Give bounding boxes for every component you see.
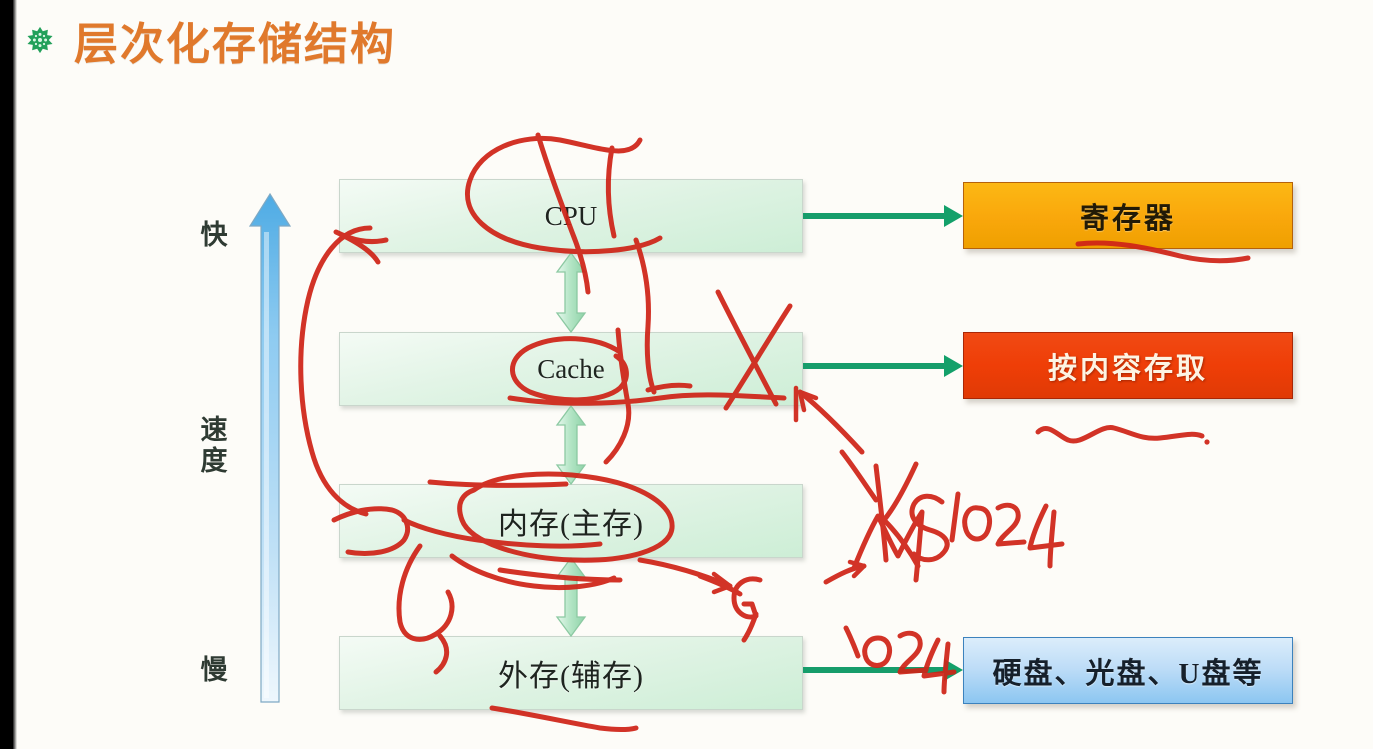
ink-k-ratio-0 <box>965 508 990 539</box>
ink-g-ratio-0 <box>865 638 890 666</box>
hierarchy-box-cpu[interactable]: CPU <box>339 179 803 253</box>
ink-letter-k-stem <box>876 466 886 560</box>
ink-letter-m <box>854 512 922 580</box>
slide-canvas: 层次化存储结构 快 速度 慢 CPU Cache 内存(主存) <box>0 0 1373 749</box>
flower-star-ornament-icon <box>26 26 54 54</box>
scribble-memory-2 <box>399 546 452 639</box>
ink-g-ratio-4b <box>944 644 948 692</box>
ink-g-ratio-2 <box>900 633 926 672</box>
side-box-content-addressed[interactable]: 按内容存取 <box>963 332 1293 399</box>
hierarchy-box-disk-label: 外存(辅存) <box>498 651 644 695</box>
hierarchy-box-cpu-label: CPU <box>545 201 598 232</box>
arrow-to-cache-shaft <box>800 392 862 452</box>
scribble-memory-4 <box>500 570 620 580</box>
right-arrow-icon <box>803 205 963 681</box>
ink-pointer-to-k <box>842 452 876 500</box>
arrow-to-g-shaft <box>640 560 730 586</box>
ink-k-ratio-4a <box>1030 506 1062 548</box>
underline-below-content <box>1038 428 1202 442</box>
ink-letter-k-arms <box>884 464 918 566</box>
speed-label-slow: 慢 <box>190 655 238 686</box>
hierarchy-box-memory-label: 内存(主存) <box>498 499 644 543</box>
ink-k-ratio-5 <box>912 496 947 560</box>
ink-g-ratio-4a <box>924 640 954 676</box>
side-box-register-label: 寄存器 <box>1080 195 1176 237</box>
speed-label-speed: 速度 <box>190 415 238 477</box>
slide-title-row: 层次化存储结构 <box>26 8 396 72</box>
hierarchy-box-cache[interactable]: Cache <box>339 332 803 406</box>
ink-pointer-to-m-shaft <box>826 566 864 582</box>
ink-letter-g <box>734 579 760 617</box>
double-headed-vertical-arrow-icon <box>557 253 585 636</box>
left-film-bar <box>0 0 13 749</box>
left-film-bar-edge <box>13 0 17 749</box>
up-arrow-icon <box>248 192 292 704</box>
arrow-to-g-head <box>714 574 730 592</box>
ink-dash-to-g <box>700 576 740 594</box>
hierarchy-box-disk[interactable]: 外存(辅存) <box>339 636 803 710</box>
speed-label-fast: 快 <box>190 220 238 251</box>
ink-k-ratio-1 <box>952 494 958 540</box>
underline-below-disk-box <box>492 708 636 730</box>
page-title: 层次化存储结构 <box>74 8 396 72</box>
side-box-content-addressed-label: 按内容存取 <box>1048 345 1208 387</box>
hierarchy-box-memory[interactable]: 内存(主存) <box>339 484 803 558</box>
ink-pointer-to-m-head <box>850 562 864 576</box>
ink-k-ratio-2 <box>998 505 1024 544</box>
side-box-register[interactable]: 寄存器 <box>963 182 1293 249</box>
side-box-disks[interactable]: 硬盘、光盘、U盘等 <box>963 637 1293 704</box>
ink-g-ratio-1 <box>846 628 858 656</box>
speed-label-speed-text: 速度 <box>199 415 229 477</box>
scribble-memory-3 <box>452 556 614 588</box>
hierarchy-box-cache-label: Cache <box>537 354 604 385</box>
dot-below-content <box>1204 439 1209 444</box>
side-box-disks-label: 硬盘、光盘、U盘等 <box>993 650 1264 692</box>
ink-k-ratio-4b <box>1050 512 1054 566</box>
